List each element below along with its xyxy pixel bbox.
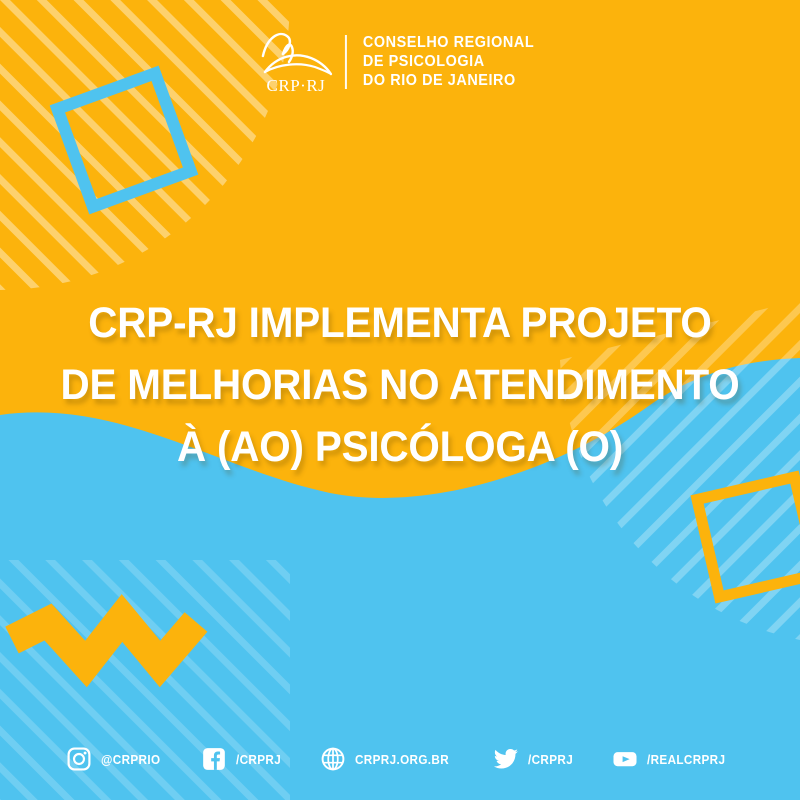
crp-rj-logo-lockup: CRP·RJ CONSELHO REGIONAL DE PSICOLOGIA D… [253,28,547,96]
social-facebook[interactable]: /CRPRJ [201,746,286,772]
social-website[interactable]: CRPRJ.ORG.BR [320,746,459,772]
organization-name: CONSELHO REGIONAL DE PSICOLOGIA DO RIO D… [363,35,547,89]
youtube-handle: /REALCRPRJ [647,752,725,767]
org-line-1: CONSELHO REGIONAL [363,35,534,51]
headline-line-2: DE MELHORIAS NO ATENDIMENTO [24,354,776,416]
facebook-icon [201,746,227,772]
social-media-bar: @CRPRIO /CRPRJ CRPRJ.ORG.BR /CRPRJ [0,746,800,772]
instagram-handle: @CRPRIO [101,752,160,767]
crp-rj-bird-book-logo: CRP·RJ [253,28,339,96]
logo-divider [345,35,347,89]
twitter-handle: /CRPRJ [528,752,573,767]
youtube-icon [612,746,638,772]
globe-icon [320,746,346,772]
headline-line-3: À (AO) PSICÓLOGA (O) [24,416,776,478]
instagram-icon [66,746,92,772]
facebook-handle: /CRPRJ [236,752,281,767]
org-line-2: DE PSICOLOGIA [363,54,534,70]
headline-line-1: CRP-RJ IMPLEMENTA PROJETO [24,292,776,354]
twitter-icon [493,746,519,772]
headline: CRP-RJ IMPLEMENTA PROJETO DE MELHORIAS N… [0,292,800,478]
website-url: CRPRJ.ORG.BR [355,752,449,767]
social-instagram[interactable]: @CRPRIO [66,746,167,772]
social-youtube[interactable]: /REALCRPRJ [612,746,734,772]
social-twitter[interactable]: /CRPRJ [493,746,578,772]
logo-mark-text: CRP·RJ [267,76,326,95]
org-line-3: DO RIO DE JANEIRO [363,73,534,89]
social-media-poster: CRP·RJ CONSELHO REGIONAL DE PSICOLOGIA D… [0,0,800,800]
